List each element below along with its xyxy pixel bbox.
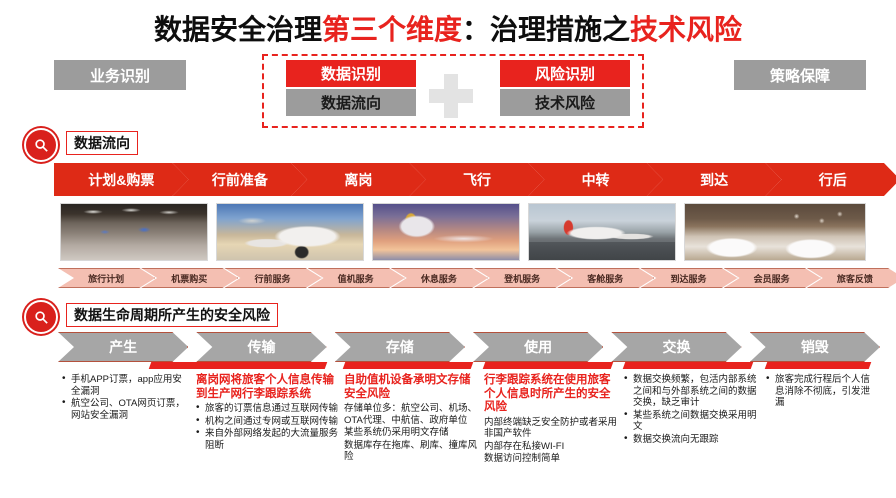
risk-plain-line: 内部终端缺乏安全防护或者采用非国产软件 — [484, 417, 618, 440]
risk-column-2: 离岗网将旅客个人信息传输到生产网行李跟踪系统旅客的订票信息通过互联网传输机构之间… — [196, 374, 338, 452]
risk-column-highlight: 行李跟踪系统在使用旅客个人信息时所产生的安全风险 — [484, 374, 618, 415]
column-accent-bar-3 — [343, 362, 474, 369]
page-title: 数据安全治理第三个维度：治理措施之技术风险 — [0, 8, 896, 48]
risk-bullet-item: 旅客完成行程后个人信息消除不彻底，引发泄漏 — [766, 374, 876, 409]
photo-detail-overlay — [529, 204, 675, 260]
lifecycle-stage-4[interactable]: 使用 — [473, 332, 603, 362]
risk-plain-line: 数据访问控制简单 — [484, 453, 618, 465]
caption-data-flow: 数据流向 — [66, 131, 138, 155]
header-pair-data: 数据识别 数据流向 — [286, 60, 416, 116]
photo-detail-overlay — [217, 204, 363, 260]
photo-detail-overlay — [61, 204, 207, 260]
title-segment-2: 第三个维度 — [322, 14, 462, 45]
service-chevron-label: 值机服务 — [338, 272, 374, 285]
risk-bullet-item: 某些系统之间数据交换采用明文 — [624, 410, 760, 433]
lifecycle-stage-label: 传输 — [247, 337, 275, 357]
lifecycle-stage-label: 交换 — [662, 337, 690, 357]
flow-stage-label: 离岗 — [344, 170, 372, 190]
service-chevron-label: 会员服务 — [754, 272, 790, 285]
lifecycle-stage-label: 使用 — [524, 337, 552, 357]
risk-column-5: 数据交换频繁，包活内部系统之间和与外部系统之间的数据交换，缺乏审计某些系统之间数… — [624, 374, 760, 446]
magnifier-icon-flow — [24, 128, 58, 162]
risk-bullet-item: 数据交换频繁，包活内部系统之间和与外部系统之间的数据交换，缺乏审计 — [624, 374, 760, 409]
column-accent-bar-4 — [483, 362, 614, 369]
risk-column-1: 手机APP订票，app应用安全漏洞航空公司、OTA网页订票，网站安全漏洞 — [62, 374, 190, 422]
service-chevron-4[interactable]: 值机服务 — [308, 268, 405, 288]
aircraft-tail-sunset-photo — [372, 203, 520, 261]
flow-stage-label: 中转 — [582, 170, 610, 190]
risk-bullet-item: 旅客的订票信息通过互联网传输 — [196, 403, 338, 415]
lifecycle-stage-5[interactable]: 交换 — [611, 332, 741, 362]
risk-plain-line: 内部存在私接WI-FI — [484, 441, 618, 453]
flow-stage-label: 行后 — [819, 170, 847, 190]
risk-column-4: 行李跟踪系统在使用旅客个人信息时所产生的安全风险内部终端缺乏安全防护或者采用非国… — [484, 374, 618, 466]
column-accent-bar-6 — [765, 362, 872, 369]
flow-stage-3[interactable]: 离岗 — [291, 163, 426, 196]
service-chevron-6[interactable]: 登机服务 — [474, 268, 571, 288]
header-technical-risk[interactable]: 技术风险 — [500, 89, 630, 116]
flow-stage-label: 行前准备 — [212, 170, 268, 190]
lifecycle-stage-label: 存储 — [386, 337, 414, 357]
service-chevron-5[interactable]: 休息服务 — [391, 268, 488, 288]
flow-stage-7[interactable]: 行后 — [765, 163, 896, 196]
risk-column-6: 旅客完成行程后个人信息消除不彻底，引发泄漏 — [766, 374, 876, 410]
caption-lifecycle-risk: 数据生命周期所产生的安全风险 — [66, 303, 278, 327]
risk-bullet-list: 旅客完成行程后个人信息消除不彻底，引发泄漏 — [766, 374, 876, 409]
aircraft-nose-photo — [216, 203, 364, 261]
header-business-identification[interactable]: 业务识别 — [54, 60, 186, 90]
service-chevron-3[interactable]: 行前服务 — [224, 268, 321, 288]
column-accent-bar-5 — [623, 362, 754, 369]
lifecycle-stage-3[interactable]: 存储 — [335, 332, 465, 362]
risk-plain-line: 某些系统仍采用明文存储 — [344, 427, 478, 439]
risk-column-highlight: 离岗网将旅客个人信息传输到生产网行李跟踪系统 — [196, 374, 338, 401]
title-segment-1: 数据安全治理 — [154, 14, 322, 45]
header-pair-risk: 风险识别 技术风险 — [500, 60, 630, 116]
flow-stage-1[interactable]: 计划&购票 — [54, 163, 189, 196]
risk-bullet-item: 航空公司、OTA网页订票，网站安全漏洞 — [62, 398, 190, 421]
service-chevron-label: 休息服务 — [421, 272, 457, 285]
title-segment-3: ：治理措施之 — [462, 14, 630, 45]
risk-bullet-list: 数据交换频繁，包活内部系统之间和与外部系统之间的数据交换，缺乏审计某些系统之间数… — [624, 374, 760, 445]
service-chevron-label: 旅客反馈 — [837, 272, 873, 285]
flow-stage-label: 飞行 — [463, 170, 491, 190]
header-policy-assurance[interactable]: 策略保障 — [734, 60, 866, 90]
lifecycle-stage-2[interactable]: 传输 — [196, 332, 326, 362]
service-chevron-1[interactable]: 旅行计划 — [58, 268, 155, 288]
lifecycle-stage-label: 销毁 — [801, 337, 829, 357]
service-chevron-8[interactable]: 到达服务 — [640, 268, 737, 288]
service-chevron-label: 机票购买 — [171, 272, 207, 285]
risk-column-highlight: 自助值机设备承明文存储安全风险 — [344, 374, 478, 401]
photo-detail-overlay — [685, 204, 865, 260]
airport-apron-photo — [528, 203, 676, 261]
service-chevron-label: 客舱服务 — [587, 272, 623, 285]
column-accent-bar-2 — [195, 362, 328, 369]
service-chevron-label: 登机服务 — [504, 272, 540, 285]
flow-stage-6[interactable]: 到达 — [647, 163, 782, 196]
service-chevron-2[interactable]: 机票购买 — [141, 268, 238, 288]
lifecycle-stage-label: 产生 — [109, 337, 137, 357]
header-data-flow[interactable]: 数据流向 — [286, 89, 416, 116]
lifecycle-stage-6[interactable]: 销毁 — [750, 332, 880, 362]
service-chevron-label: 到达服务 — [670, 272, 706, 285]
flow-stage-4[interactable]: 飞行 — [410, 163, 545, 196]
header-data-identification[interactable]: 数据识别 — [286, 60, 416, 87]
risk-bullet-list: 旅客的订票信息通过互联网传输机构之间通过专网或互联网传输来自外部网络发起的大流量… — [196, 403, 338, 451]
risk-bullet-item: 手机APP订票，app应用安全漏洞 — [62, 374, 190, 397]
risk-bullet-list: 手机APP订票，app应用安全漏洞航空公司、OTA网页订票，网站安全漏洞 — [62, 374, 190, 421]
lifecycle-stage-1[interactable]: 产生 — [58, 332, 188, 362]
risk-bullet-item: 机构之间通过专网或互联网传输 — [196, 416, 338, 428]
service-chevron-label: 行前服务 — [254, 272, 290, 285]
header-risk-identification[interactable]: 风险识别 — [500, 60, 630, 87]
service-chevron-label: 旅行计划 — [88, 272, 124, 285]
risk-bullet-item: 数据交换流向无跟踪 — [624, 434, 760, 446]
plus-icon — [429, 74, 473, 118]
title-segment-4: 技术风险 — [630, 14, 742, 45]
flow-stage-label: 计划&购票 — [88, 170, 154, 190]
flow-stage-2[interactable]: 行前准备 — [173, 163, 308, 196]
flow-stage-5[interactable]: 中转 — [528, 163, 663, 196]
risk-plain-line: 存储单位多：航空公司、机场、OTA代理、中航信、政府单位 — [344, 403, 478, 426]
service-chevron-7[interactable]: 客舱服务 — [557, 268, 654, 288]
slide-canvas: 数据安全治理第三个维度：治理措施之技术风险 业务识别 数据识别 数据流向 风险识… — [0, 0, 896, 498]
risk-plain-line: 数据库存在拖库、刷库、撞库风险 — [344, 440, 478, 463]
flow-stage-label: 到达 — [700, 170, 728, 190]
risk-bullet-item: 来自外部网络发起的大流量服务阻断 — [196, 428, 338, 451]
hotel-room-photo — [684, 203, 866, 261]
magnifier-icon-risk — [24, 300, 58, 334]
photo-detail-overlay — [373, 204, 519, 260]
risk-column-3: 自助值机设备承明文存储安全风险存储单位多：航空公司、机场、OTA代理、中航信、政… — [344, 374, 478, 464]
service-chevron-9[interactable]: 会员服务 — [724, 268, 821, 288]
airport-terminal-photo — [60, 203, 208, 261]
